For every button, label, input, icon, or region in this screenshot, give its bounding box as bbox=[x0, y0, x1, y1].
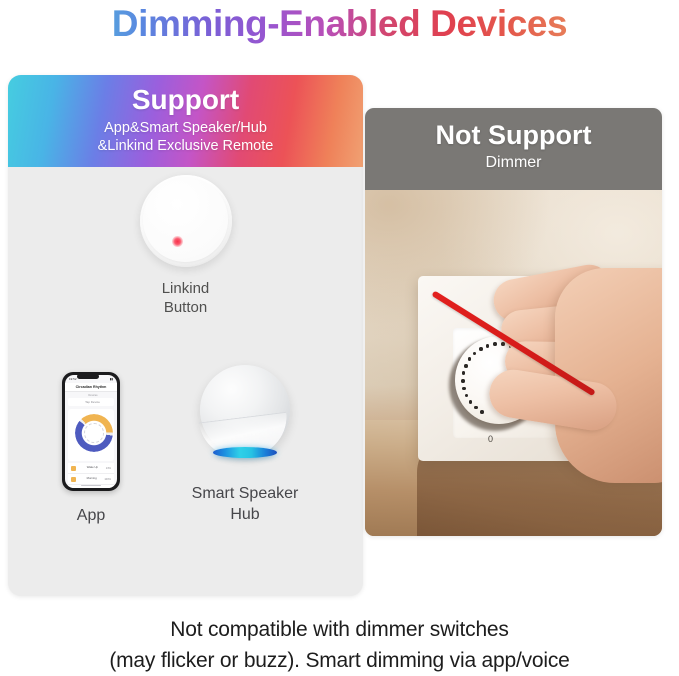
phone-status-icons: ▮▮ bbox=[110, 377, 113, 383]
hand-illustration bbox=[483, 250, 662, 500]
not-support-subtitle: Dimmer bbox=[365, 152, 662, 174]
app-label: App bbox=[32, 507, 150, 525]
phone-notch bbox=[77, 374, 99, 379]
phone-circadian-ring-card bbox=[68, 409, 114, 461]
speaker-label-line1: Smart Speaker bbox=[150, 483, 340, 504]
phone-screen: 19:52 ▮▮ Circadian Rhythm Devices Tap De… bbox=[65, 375, 117, 488]
smart-speaker-icon[interactable] bbox=[195, 365, 295, 473]
app-device: 19:52 ▮▮ Circadian Rhythm Devices Tap De… bbox=[32, 372, 150, 525]
not-support-panel: Not Support Dimmer 0 bbox=[365, 108, 662, 536]
not-support-title: Not Support bbox=[365, 118, 662, 152]
knob-tick bbox=[462, 387, 466, 391]
linkind-button-device: Linkind Button bbox=[8, 175, 363, 317]
phone-search-field[interactable]: Tap Device bbox=[68, 398, 114, 406]
knob-tick bbox=[461, 379, 465, 383]
knob-tick bbox=[474, 406, 478, 410]
list-item[interactable]: Wake Up 13% bbox=[68, 463, 114, 474]
linkind-label-line1: Linkind bbox=[8, 279, 363, 298]
support-title: Support bbox=[8, 83, 363, 117]
list-item[interactable]: Morning 100% bbox=[68, 474, 114, 485]
knob-tick bbox=[464, 364, 468, 368]
led-indicator-icon bbox=[172, 236, 183, 247]
linkind-button-label: Linkind Button bbox=[8, 279, 363, 317]
schedule-title: Morning bbox=[79, 477, 104, 481]
knob-tick bbox=[465, 394, 469, 398]
schedule-value: 13% bbox=[106, 467, 111, 470]
knob-tick bbox=[462, 371, 466, 375]
linkind-button-icon[interactable] bbox=[140, 175, 232, 267]
circadian-ring-dial bbox=[84, 423, 104, 443]
schedule-icon bbox=[71, 466, 76, 471]
knob-tick bbox=[473, 352, 477, 356]
support-subtitle-line1: App&Smart Speaker/Hub bbox=[8, 119, 363, 137]
schedule-value: 100% bbox=[104, 478, 111, 481]
caption-line2: (may flicker or buzz). Smart dimming via… bbox=[0, 645, 679, 676]
smart-speaker-label: Smart Speaker Hub bbox=[150, 483, 340, 525]
knob-tick bbox=[479, 347, 483, 351]
linkind-label-line2: Button bbox=[8, 298, 363, 317]
support-subtitle-line2: &Linkind Exclusive Remote bbox=[8, 137, 363, 155]
device-row: 19:52 ▮▮ Circadian Rhythm Devices Tap De… bbox=[8, 365, 363, 525]
support-panel-header: Support App&Smart Speaker/Hub &Linkind E… bbox=[8, 75, 363, 167]
not-support-panel-header: Not Support Dimmer bbox=[365, 108, 662, 190]
phone-appbar-title: Circadian Rhythm bbox=[65, 383, 117, 392]
knob-tick bbox=[469, 400, 473, 404]
schedule-icon bbox=[71, 488, 76, 489]
schedule-icon bbox=[71, 477, 76, 482]
caption-line1: Not compatible with dimmer switches bbox=[0, 614, 679, 645]
support-panel: Support App&Smart Speaker/Hub &Linkind E… bbox=[8, 75, 363, 596]
speaker-label-line2: Hub bbox=[150, 504, 340, 525]
speaker-led-ring-icon bbox=[213, 447, 277, 458]
support-subtitle: App&Smart Speaker/Hub &Linkind Exclusive… bbox=[8, 117, 363, 155]
smart-speaker-device: Smart Speaker Hub bbox=[150, 365, 340, 525]
knob-tick bbox=[468, 357, 472, 361]
smartphone-icon[interactable]: 19:52 ▮▮ Circadian Rhythm Devices Tap De… bbox=[62, 372, 120, 491]
page-title: Dimming-Enabled Devices bbox=[0, 2, 679, 46]
dimmer-switch-photo: 0 bbox=[365, 190, 662, 536]
schedule-title: Wake Up bbox=[79, 466, 106, 470]
linkind-button-rim bbox=[143, 177, 228, 262]
bottom-caption: Not compatible with dimmer switches (may… bbox=[0, 614, 679, 676]
phone-home-indicator bbox=[81, 485, 101, 486]
